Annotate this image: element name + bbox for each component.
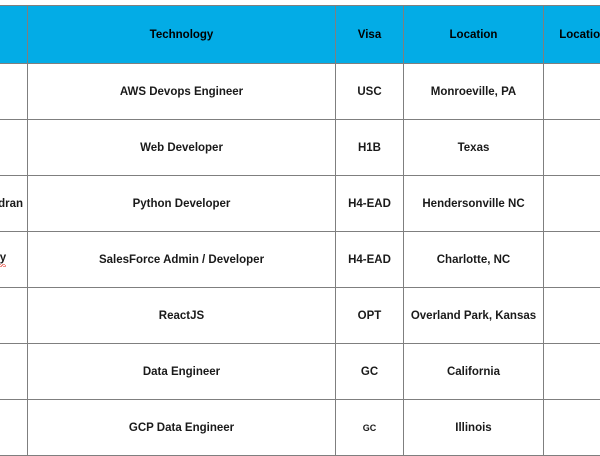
cell-technology[interactable]: AWS Devops Engineer — [28, 64, 336, 120]
cell-location-preference[interactable]: Any — [544, 400, 600, 456]
cell-location-preference[interactable] — [544, 64, 600, 120]
cell-location[interactable]: California — [404, 344, 544, 400]
cell-visa[interactable]: H1B — [336, 120, 404, 176]
table-row: Sireddy SalesForce Admin / Developer H4-… — [0, 232, 600, 288]
column-header-visa[interactable]: Visa — [336, 6, 404, 64]
cell-visa[interactable]: H4-EAD — [336, 232, 404, 288]
cell-name[interactable]: Ravichandran — [0, 176, 28, 232]
cell-technology[interactable]: Web Developer — [28, 120, 336, 176]
column-header-name[interactable] — [0, 6, 28, 64]
cell-technology[interactable]: Data Engineer — [28, 344, 336, 400]
table-row: AWS Devops Engineer USC Monroeville, PA — [0, 64, 600, 120]
table-row: Ravichandran Python Developer H4-EAD Hen… — [0, 176, 600, 232]
column-header-technology[interactable]: Technology — [28, 6, 336, 64]
cell-visa[interactable]: USC — [336, 64, 404, 120]
table-header: Technology Visa Location Location Prefer… — [0, 6, 600, 64]
cell-location[interactable]: Hendersonville NC — [404, 176, 544, 232]
cell-name[interactable] — [0, 400, 28, 456]
cell-technology[interactable]: GCP Data Engineer — [28, 400, 336, 456]
cell-location[interactable]: Texas — [404, 120, 544, 176]
column-header-location[interactable]: Location — [404, 6, 544, 64]
table-row: Web Developer H1B Texas — [0, 120, 600, 176]
cell-visa[interactable]: H4-EAD — [336, 176, 404, 232]
cell-location[interactable]: Overland Park, Kansas — [404, 288, 544, 344]
cell-location-preference[interactable]: Any — [544, 176, 600, 232]
cell-location-preference[interactable] — [544, 120, 600, 176]
table-row: Zhou ReactJS OPT Overland Park, Kansas A… — [0, 288, 600, 344]
cell-technology[interactable]: ReactJS — [28, 288, 336, 344]
header-row: Technology Visa Location Location Prefer… — [0, 6, 600, 64]
candidates-table: Technology Visa Location Location Prefer… — [0, 5, 600, 456]
cell-location-preference[interactable]: Any — [544, 344, 600, 400]
cell-technology[interactable]: Python Developer — [28, 176, 336, 232]
table-body: AWS Devops Engineer USC Monroeville, PA … — [0, 64, 600, 456]
column-header-location-preference[interactable]: Location Preference — [544, 6, 600, 64]
cell-name[interactable] — [0, 120, 28, 176]
cell-visa[interactable]: GC — [336, 400, 404, 456]
cell-location-preference[interactable]: Any — [544, 288, 600, 344]
cell-technology[interactable]: SalesForce Admin / Developer — [28, 232, 336, 288]
cell-location[interactable]: Charlotte, NC — [404, 232, 544, 288]
misspelled-word: Sireddy — [0, 252, 6, 267]
spreadsheet-viewport: Technology Visa Location Location Prefer… — [0, 0, 600, 450]
cell-visa[interactable]: OPT — [336, 288, 404, 344]
cell-location[interactable]: Illinois — [404, 400, 544, 456]
table-row: GCP Data Engineer GC Illinois Any — [0, 400, 600, 456]
cell-visa[interactable]: GC — [336, 344, 404, 400]
cell-name[interactable] — [0, 64, 28, 120]
cell-name[interactable]: Sireddy — [0, 232, 28, 288]
cell-location-preference[interactable]: Any — [544, 232, 600, 288]
cell-name[interactable]: Zhou — [0, 288, 28, 344]
table-row: Data Engineer GC California Any — [0, 344, 600, 400]
cell-location[interactable]: Monroeville, PA — [404, 64, 544, 120]
cell-name[interactable] — [0, 344, 28, 400]
